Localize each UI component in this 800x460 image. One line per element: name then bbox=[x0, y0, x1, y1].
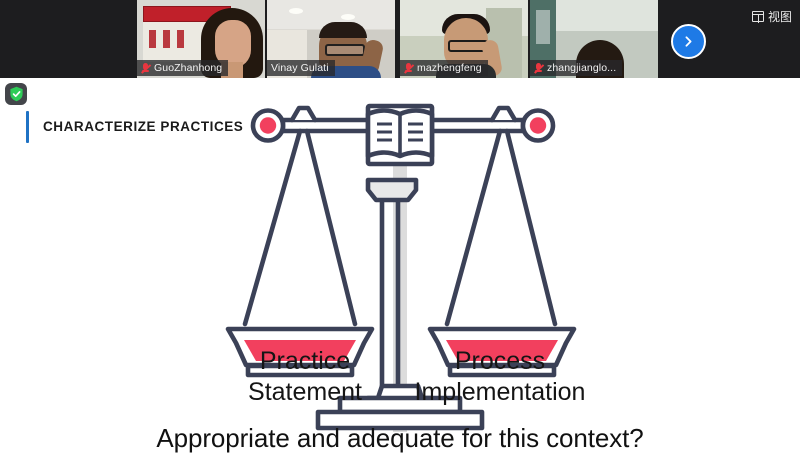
next-participants-button[interactable] bbox=[671, 24, 706, 59]
participant-name-bar-4: zhangjianglo... bbox=[530, 60, 622, 76]
grid-view-icon bbox=[752, 11, 764, 22]
participant-tile-2[interactable]: Vinay Gulati bbox=[267, 0, 395, 78]
participant-tile-3[interactable]: mazhengfeng bbox=[400, 0, 528, 78]
right-pan-label-line2: Implementation bbox=[382, 377, 618, 408]
chevron-right-icon bbox=[682, 35, 695, 48]
person-hair bbox=[319, 22, 367, 38]
left-pan-label: Practice Statement bbox=[205, 346, 405, 407]
video-filmstrip: GuoZhanhong Vinay Gulati bbox=[0, 0, 800, 78]
ceiling-light bbox=[289, 8, 303, 14]
slide-caption: Appropriate and adequate for this contex… bbox=[0, 423, 800, 454]
right-pan-label-line1: Process bbox=[382, 346, 618, 377]
participant-tile-1[interactable]: GuoZhanhong bbox=[137, 0, 265, 78]
mic-muted-icon bbox=[534, 63, 543, 74]
participant-name-bar-3: mazhengfeng bbox=[400, 60, 488, 76]
mic-muted-icon bbox=[141, 63, 150, 74]
background-window bbox=[536, 10, 550, 44]
screen: GuoZhanhong Vinay Gulati bbox=[0, 0, 800, 460]
ceiling-light bbox=[341, 14, 355, 20]
participant-name-1: GuoZhanhong bbox=[154, 62, 222, 74]
participant-tile-4[interactable]: zhangjianglo... bbox=[530, 0, 658, 78]
left-pan-label-line1: Practice bbox=[205, 346, 405, 377]
presentation-slide: CHARACTERIZE PRACTICES bbox=[0, 78, 800, 460]
person-glasses bbox=[325, 44, 365, 56]
participant-name-bar-1: GuoZhanhong bbox=[137, 60, 228, 76]
left-pan-label-line2: Statement bbox=[205, 377, 405, 408]
board-item bbox=[149, 30, 156, 48]
board-item bbox=[163, 30, 170, 48]
participant-name-2: Vinay Gulati bbox=[271, 62, 329, 74]
participant-name-bar-2: Vinay Gulati bbox=[267, 60, 335, 76]
participant-name-4: zhangjianglo... bbox=[547, 62, 616, 74]
board-item bbox=[177, 30, 184, 48]
participant-name-3: mazhengfeng bbox=[417, 62, 482, 74]
view-control-label: 视图 bbox=[768, 8, 792, 25]
right-pan-label: Process Implementation bbox=[382, 346, 618, 407]
mic-muted-icon bbox=[404, 63, 413, 74]
view-control-button[interactable]: 视图 bbox=[752, 8, 792, 24]
